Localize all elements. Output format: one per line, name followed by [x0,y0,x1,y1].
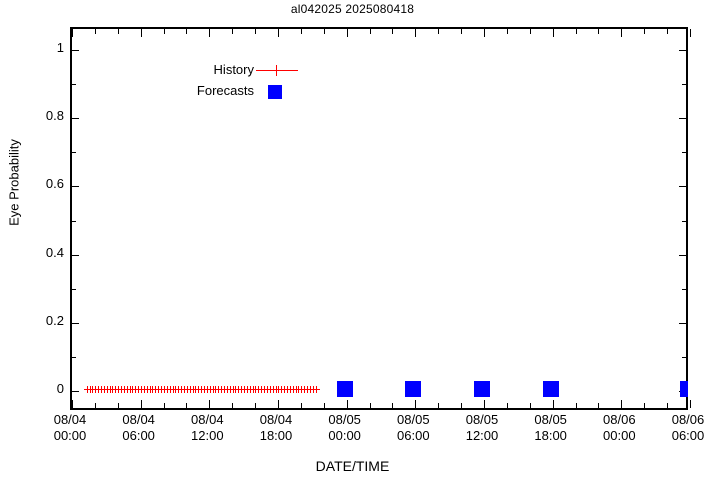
forecast-data-point [543,381,559,397]
x-axis-tick-label-date: 08/06 [648,412,705,428]
y-axis-tick-label: 1 [4,40,64,55]
y-axis-title: Eye Probability [7,73,22,293]
forecast-data-point [680,381,688,397]
data-series-layer [70,27,688,410]
x-axis-tick-labels: 08/0400:0008/0406:0008/0412:0008/0418:00… [0,412,705,456]
x-axis-title: DATE/TIME [0,458,705,474]
forecast-data-point [474,381,490,397]
forecast-data-point [405,381,421,397]
x-axis-tick [690,400,691,408]
chart-canvas: al042025 2025080418 HistoryForecasts 00.… [0,0,705,482]
page-title: al042025 2025080418 [0,2,705,16]
x-axis-tick-label: 08/0606:00 [648,412,705,444]
forecast-data-point [337,381,353,397]
x-axis-tick [690,29,691,37]
y-axis-tick-label: 0.2 [4,313,64,328]
history-data-point [313,386,320,393]
y-axis-tick-label: 0 [4,381,64,396]
x-axis-tick-label-time: 06:00 [648,428,705,444]
